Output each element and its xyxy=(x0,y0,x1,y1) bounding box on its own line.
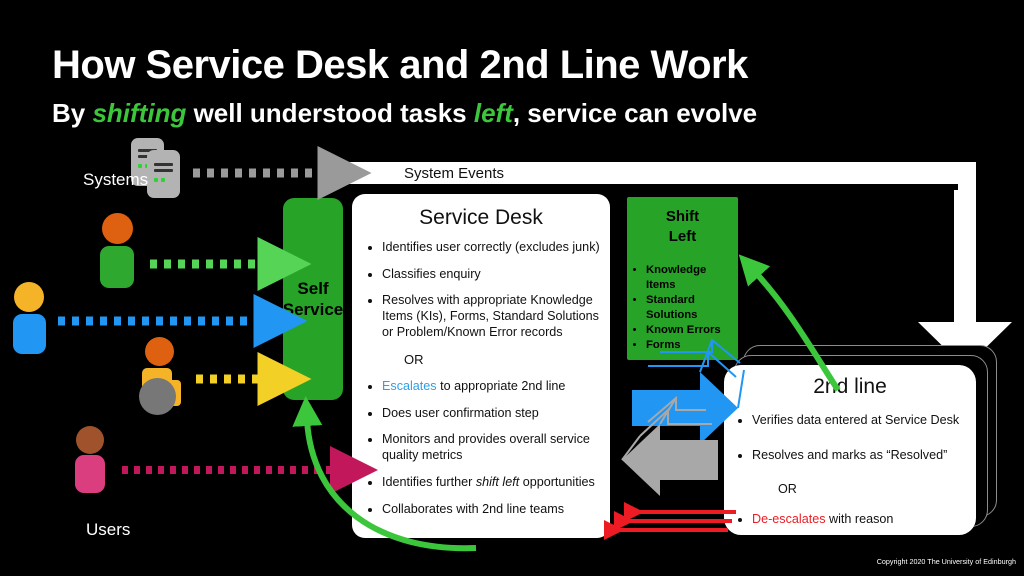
escalates-rest: to appropriate 2nd line xyxy=(437,379,566,393)
list-item: Known Errors xyxy=(646,323,738,338)
page-subtitle: By shifting well understood tasks left, … xyxy=(52,98,992,129)
self-service-box[interactable]: Self Service xyxy=(283,198,343,400)
list-item: Resolves and marks as “Resolved” xyxy=(752,448,968,464)
list-item: Knowledge Items xyxy=(646,263,738,293)
service-desk-bullet-list: Identifies user correctly (excludes junk… xyxy=(368,240,600,528)
page-title: How Service Desk and 2nd Line Work xyxy=(52,44,952,86)
subtitle-emphasis-shifting: shifting xyxy=(92,98,186,128)
list-item: Classifies enquiry xyxy=(382,267,600,283)
list-item: Forms xyxy=(646,338,738,353)
list-item: Does user confirmation step xyxy=(382,406,600,422)
user-magenta-body-icon xyxy=(75,455,105,493)
second-line-title: 2nd line xyxy=(724,375,976,399)
shift-left-emphasis: shift left xyxy=(476,475,519,489)
list-item: Identifies user correctly (excludes junk… xyxy=(382,240,600,256)
de-escalates-link[interactable]: De-escalates xyxy=(752,512,826,526)
list-item: Verifies data entered at Service Desk xyxy=(752,413,968,429)
copyright-notice: Copyright 2020 The University of Edinbur… xyxy=(846,557,1016,566)
self-service-label-line2: Service xyxy=(283,300,344,319)
system-events-bar-inner-mask xyxy=(348,184,958,190)
list-item-shift-left: Identifies further shift left opportunit… xyxy=(382,475,600,491)
subtitle-emphasis-left: left xyxy=(474,98,513,128)
user-magenta-head-icon xyxy=(76,426,104,454)
shift-left-prefix: Identifies further xyxy=(382,475,476,489)
subtitle-text-1: By xyxy=(52,98,92,128)
list-item: Resolves with appropriate Knowledge Item… xyxy=(382,293,600,340)
list-item: Standard Solutions xyxy=(646,293,738,323)
subtitle-text-3: , service can evolve xyxy=(513,98,757,128)
slide-canvas: How Service Desk and 2nd Line Work By sh… xyxy=(0,0,1024,576)
shift-left-box[interactable]: Shift Left Knowledge Items Standard Solu… xyxy=(627,197,738,360)
list-item: Monitors and provides overall service qu… xyxy=(382,432,600,463)
shift-left-title-line2: Left xyxy=(669,228,697,245)
user-blue-body-icon xyxy=(13,314,46,354)
shift-left-suffix: opportunities xyxy=(519,475,595,489)
subtitle-text-2: well understood tasks xyxy=(186,98,474,128)
de-escalates-rest: with reason xyxy=(826,512,894,526)
user-wheelchair-wheel-icon xyxy=(139,378,176,415)
user-blue-head-icon xyxy=(14,282,44,312)
users-label: Users xyxy=(86,520,130,540)
self-service-label-line1: Self xyxy=(297,279,328,298)
shift-left-item-list: Knowledge Items Standard Solutions Known… xyxy=(633,263,738,352)
user-green-body-icon xyxy=(100,246,134,288)
escalates-link[interactable]: Escalates xyxy=(382,379,437,393)
server-icon-front xyxy=(147,150,180,198)
shift-left-title-line1: Shift xyxy=(666,208,699,225)
second-line-bullet-list: Verifies data entered at Service Desk Re… xyxy=(738,413,968,547)
list-item-deescalates: De-escalates with reason xyxy=(752,512,968,528)
service-desk-title: Service Desk xyxy=(352,206,610,230)
service-desk-card[interactable]: Service Desk Identifies user correctly (… xyxy=(352,194,610,538)
second-line-or-label: OR xyxy=(778,482,968,498)
systems-label: Systems xyxy=(83,170,148,190)
arrow-deescalate-red xyxy=(620,512,736,530)
list-item: Collaborates with 2nd line teams xyxy=(382,502,600,518)
service-desk-or-label: OR xyxy=(404,352,600,368)
system-events-label: System Events xyxy=(404,165,504,182)
arrow-resolve-gray xyxy=(622,398,718,496)
shift-left-title: Shift Left xyxy=(627,207,738,246)
list-item-escalates: Escalates to appropriate 2nd line xyxy=(382,379,600,395)
user-wheelchair-head-icon xyxy=(145,337,174,366)
second-line-card[interactable]: 2nd line Verifies data entered at Servic… xyxy=(724,365,976,535)
user-green-head-icon xyxy=(102,213,133,244)
